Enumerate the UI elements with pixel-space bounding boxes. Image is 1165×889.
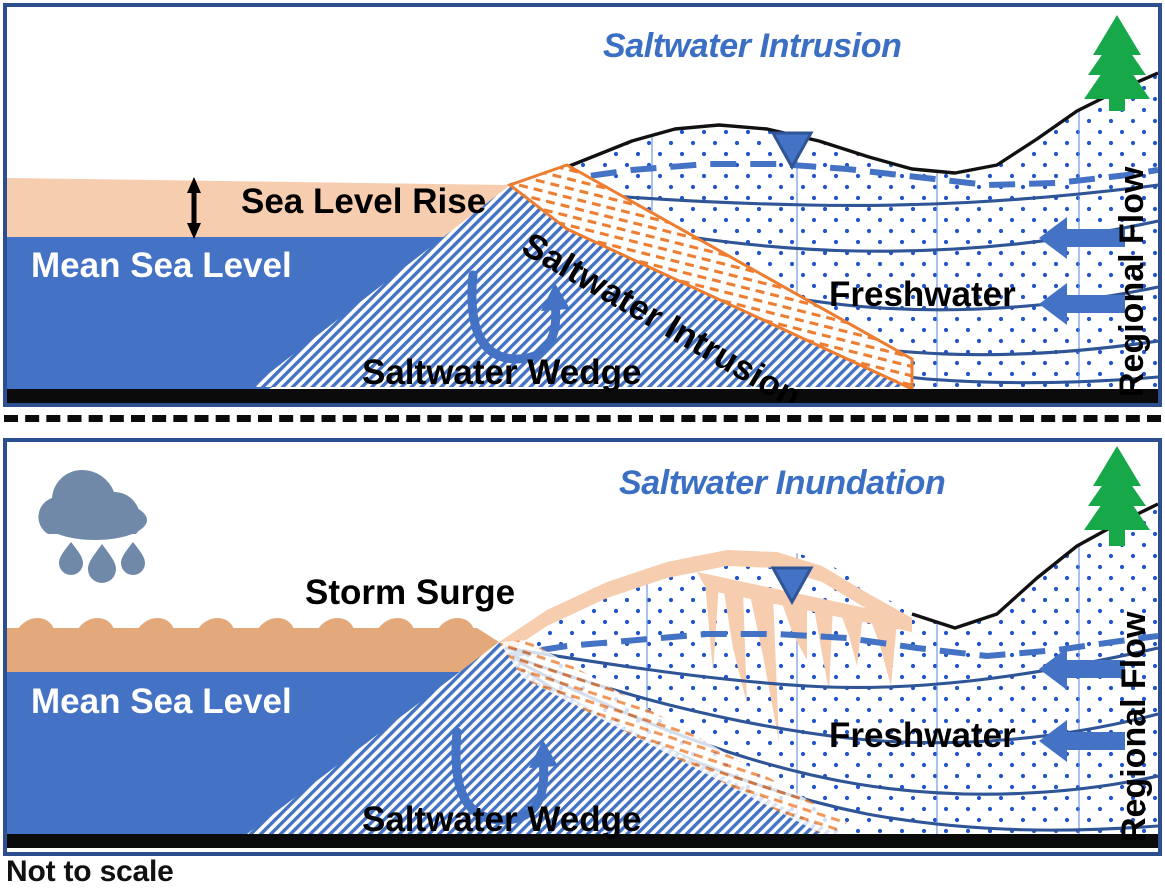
label-storm-surge: Storm Surge (305, 573, 515, 613)
label-saltwater-wedge: Saltwater Wedge (362, 800, 641, 840)
panel-title-intrusion: Saltwater Intrusion (603, 27, 901, 66)
label-mean-sea-level: Mean Sea Level (31, 246, 292, 286)
panel-saltwater-intrusion: Saltwater Intrusion Sea Level Rise Mean … (3, 3, 1162, 407)
panel-top-graphic (7, 7, 1158, 403)
conifer-tree-icon (1084, 15, 1150, 111)
panel-bottom-graphic (7, 442, 1158, 852)
figure-stage: Saltwater Intrusion Sea Level Rise Mean … (0, 0, 1165, 886)
panel-divider (4, 415, 1161, 422)
label-regional-flow: Regional Flow (1113, 167, 1152, 397)
panel-title-inundation: Saltwater Inundation (619, 464, 945, 503)
label-freshwater: Freshwater (829, 716, 1016, 756)
panel-saltwater-inundation: Saltwater Inundation Storm Surge Mean Se… (3, 438, 1162, 856)
rain-cloud-icon (38, 470, 147, 583)
label-mean-sea-level: Mean Sea Level (31, 682, 292, 722)
label-freshwater: Freshwater (829, 275, 1016, 315)
label-sea-level-rise: Sea Level Rise (241, 182, 486, 222)
label-saltwater-wedge: Saltwater Wedge (362, 353, 641, 393)
figure-caption-not-to-scale: Not to scale (6, 855, 174, 889)
label-regional-flow: Regional Flow (1115, 612, 1154, 842)
